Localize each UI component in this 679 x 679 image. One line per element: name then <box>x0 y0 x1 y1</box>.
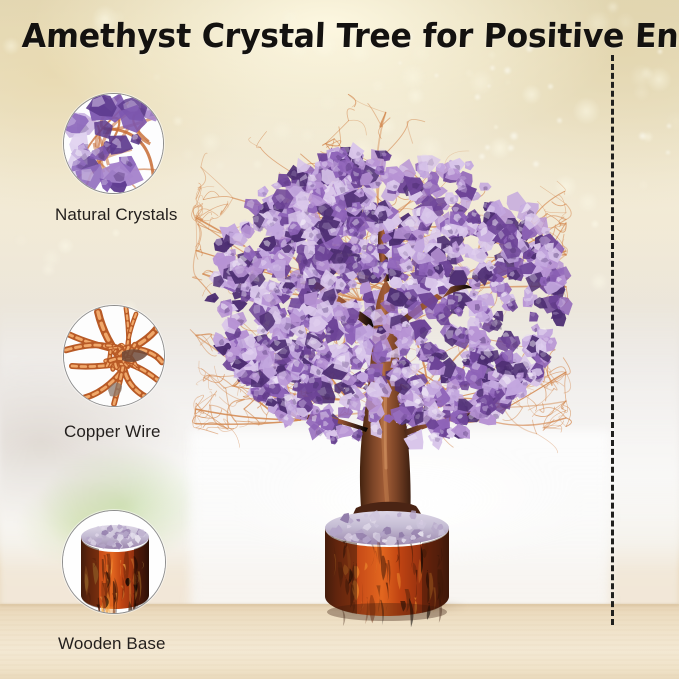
background-white-cloth <box>190 430 610 615</box>
callout-wooden-base-label: Wooden Base <box>58 634 166 654</box>
product-infographic: Amethyst Crystal Tree for Positive Energ… <box>0 0 679 679</box>
callout-wooden-base-image <box>62 510 166 614</box>
measurement-dashed-line <box>611 55 614 625</box>
callout-natural-crystals-label: Natural Crystals <box>55 205 178 225</box>
callout-natural-crystals-image <box>63 93 164 194</box>
callout-copper-wire-label: Copper Wire <box>64 422 161 442</box>
callout-copper-wire-image <box>63 305 165 407</box>
page-title: Amethyst Crystal Tree for Positive Energ… <box>21 16 615 55</box>
product-drop-shadow <box>330 598 470 614</box>
copper-wire-strand <box>109 348 120 350</box>
